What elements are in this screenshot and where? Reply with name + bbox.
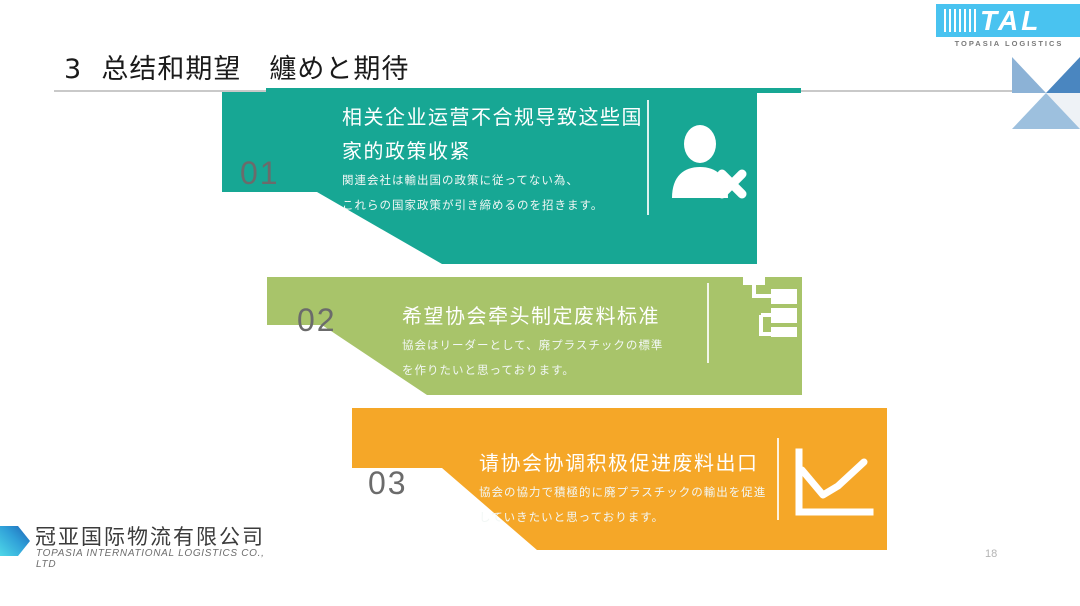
tal-logo-subtitle: TOPASIA LOGISTICS <box>938 39 1080 48</box>
tal-logo: TAL TOPASIA LOGISTICS <box>936 4 1080 56</box>
block-heading-01: 相关企业运营不合规导致这些国 家的政策收紧 <box>342 100 643 168</box>
block-number-02: 02 <box>297 302 337 339</box>
stripes-icon <box>944 9 978 32</box>
block-divider-02 <box>707 283 709 363</box>
block-divider-01 <box>647 100 649 215</box>
tal-logo-word: TAL <box>980 5 1041 36</box>
line-chart-icon <box>792 448 874 520</box>
pinwheel-icon <box>1012 57 1080 129</box>
content-block-01: 相关企业运营不合规导致这些国 家的政策收紧 関連会社は輸出国の政策に従ってない為… <box>222 92 757 264</box>
block-text-02: 希望协会牵头制定废料标准 協会はリーダーとして、廃プラスチックの標準 を作りたい… <box>402 299 663 383</box>
block-text-03: 请协会协调积极促进废料出口 協会の協力で積極的に廃プラスチックの輸出を促進 して… <box>479 446 766 530</box>
tal-logo-bar: TAL <box>936 4 1080 37</box>
slide-canvas: 3 总结和期望 纏めと期待 TAL TOPASIA LOGISTICS 相关企业… <box>0 0 1080 606</box>
block-divider-03 <box>777 438 779 520</box>
hexagon-arrow-icon <box>0 524 30 558</box>
block-text-01: 相关企业运营不合规导致这些国 家的政策收紧 関連会社は輸出国の政策に従ってない為… <box>342 100 643 218</box>
block-number-01: 01 <box>240 155 280 192</box>
block-subtext-02: 協会はリーダーとして、廃プラスチックの標準 を作りたいと思っております。 <box>402 333 663 383</box>
block-heading-03: 请协会协调积极促进废料出口 <box>479 446 766 480</box>
block-heading-02: 希望协会牵头制定废料标准 <box>402 299 663 333</box>
content-block-03: 请协会协调积极促进废料出口 協会の協力で積極的に廃プラスチックの輸出を促進 して… <box>352 408 887 550</box>
org-chart-icon <box>735 277 801 337</box>
company-name-cn: 冠亚国际物流有限公司 <box>35 521 265 551</box>
page-title: 3 总结和期望 纏めと期待 <box>64 47 409 86</box>
company-name-en: TOPASIA INTERNATIONAL LOGISTICS CO., LTD <box>36 548 270 570</box>
block-subtext-01: 関連会社は輸出国の政策に従ってない為、 これらの国家政策が引き締めるのを招きます… <box>342 168 643 218</box>
company-logo: 冠亚国际物流有限公司 TOPASIA INTERNATIONAL LOGISTI… <box>0 519 270 567</box>
content-block-02: 希望协会牵头制定废料标准 協会はリーダーとして、廃プラスチックの標準 を作りたい… <box>267 277 802 395</box>
block-subtext-03: 協会の協力で積極的に廃プラスチックの輸出を促進 していきたいと思っております。 <box>479 480 766 530</box>
block-number-03: 03 <box>368 465 408 502</box>
user-remove-icon <box>662 124 747 199</box>
page-number: 18 <box>985 548 997 560</box>
